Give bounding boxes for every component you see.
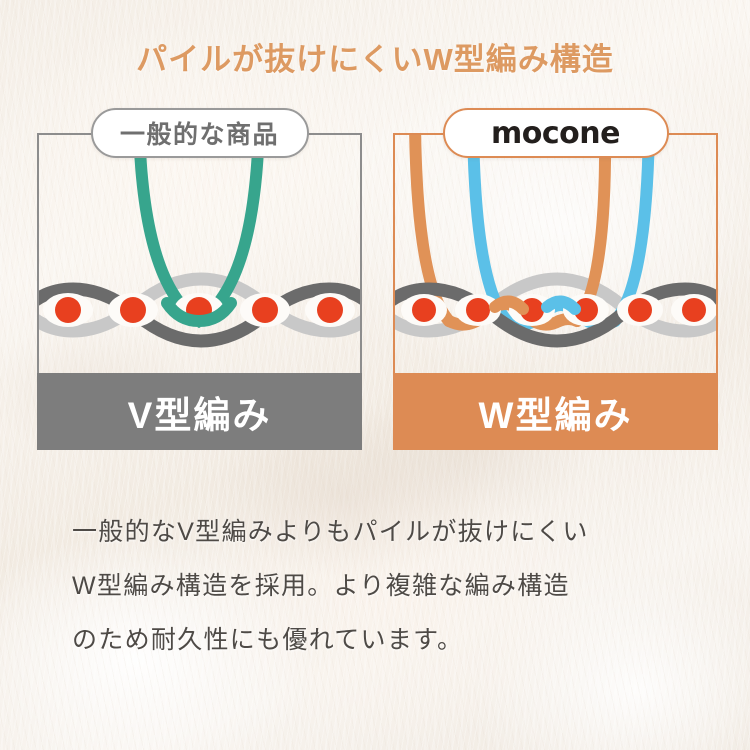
comparison-panel-generic: 一般的な商品 V型編み	[37, 133, 362, 450]
description-text: 一般的なV型編みよりもパイルが抜けにくい W型編み構造を採用。より複雑な編み構造…	[72, 505, 692, 667]
v-knit-diagram	[39, 135, 360, 371]
panel-label-pill-generic: 一般的な商品	[91, 108, 309, 158]
description-line: 一般的なV型編みよりもパイルが抜けにくい	[72, 505, 692, 559]
panel-label-pill-mocone: mocone	[443, 108, 669, 158]
w-knit-diagram	[395, 135, 716, 371]
description-line: W型編み構造を採用。より複雑な編み構造	[72, 559, 692, 613]
footer-bar-generic: V型編み	[37, 373, 362, 450]
footer-bar-mocone: W型編み	[393, 373, 718, 450]
brand-logo-mocone: mocone	[491, 116, 620, 151]
panel-label-text-generic: 一般的な商品	[120, 115, 279, 151]
description-line: のため耐久性にも優れています。	[72, 613, 692, 667]
footer-label-mocone: W型編み	[479, 385, 633, 439]
footer-label-generic: V型編み	[128, 385, 272, 439]
comparison-panel-mocone: mocone W型編み	[393, 133, 718, 450]
page-title: パイルが抜けにくいW型編み構造	[0, 34, 750, 79]
